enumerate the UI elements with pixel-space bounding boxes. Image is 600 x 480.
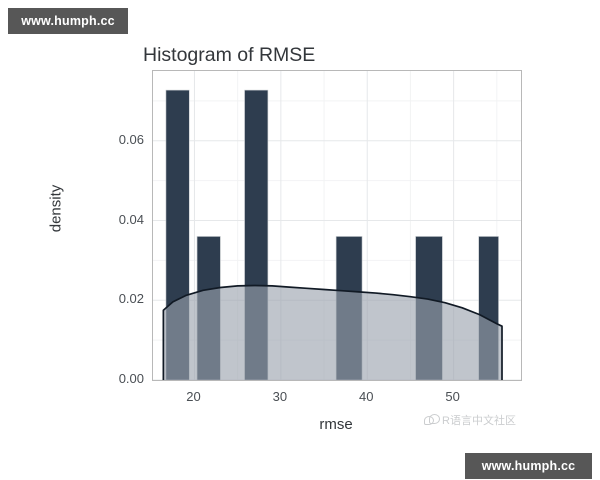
x-axis-tick-labels: 20304050 (0, 390, 600, 410)
watermark-bottom-right: www.humph.cc (465, 453, 592, 479)
screenshot-canvas: Histogram of RMSE density rmse 0.000.020… (0, 0, 600, 480)
plot-canvas (153, 71, 521, 380)
community-watermark: R语言中文社区 (424, 412, 516, 428)
plot-panel (152, 70, 522, 381)
density-curve (163, 286, 502, 380)
x-tick-label: 50 (428, 390, 478, 403)
y-tick-label: 0.04 (84, 213, 144, 226)
x-tick-label: 20 (168, 390, 218, 403)
y-tick-label: 0.02 (84, 292, 144, 305)
community-watermark-label: R语言中文社区 (442, 412, 516, 428)
histogram-plot: Histogram of RMSE density rmse 0.000.020… (0, 0, 600, 480)
y-axis-title: density (48, 149, 65, 269)
x-tick-label: 30 (255, 390, 305, 403)
page-title: Histogram of RMSE (143, 44, 315, 67)
density-fill (163, 286, 502, 380)
watermark-top-left: www.humph.cc (8, 8, 128, 34)
y-tick-label: 0.06 (84, 133, 144, 146)
y-tick-label: 0.00 (84, 372, 144, 385)
community-logo-icon (424, 414, 439, 427)
x-tick-label: 40 (341, 390, 391, 403)
